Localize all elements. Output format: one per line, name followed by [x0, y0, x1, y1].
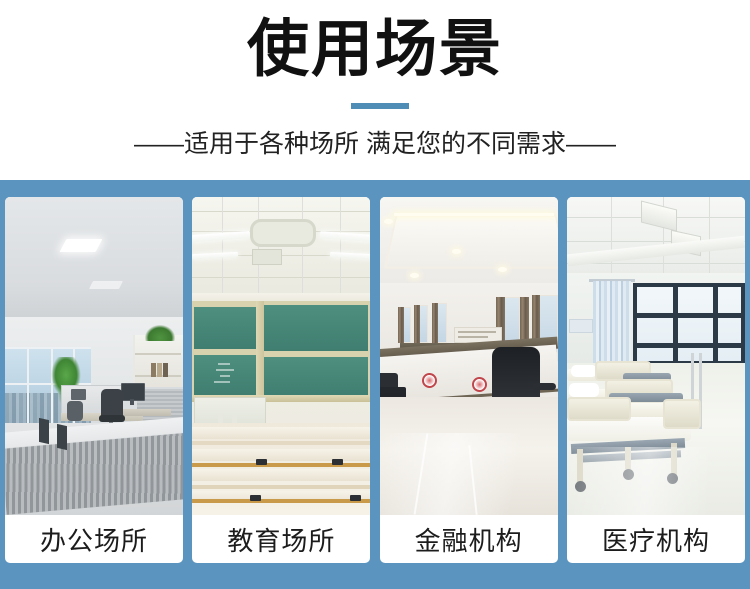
bank-scene-photo — [380, 197, 558, 515]
office-scene-photo — [5, 197, 183, 515]
scenarios-band: 办公场所 — [0, 180, 750, 589]
scenario-card-list: 办公场所 — [5, 197, 745, 563]
scenario-card-label: 办公场所 — [5, 515, 183, 563]
scenario-card-education[interactable]: 教育场所 — [192, 197, 370, 563]
page-subtitle: ——适用于各种场所 满足您的不同需求—— — [0, 128, 750, 160]
hospital-scene-photo — [567, 197, 745, 515]
scenario-card-office[interactable]: 办公场所 — [5, 197, 183, 563]
scenario-card-label: 教育场所 — [192, 515, 370, 563]
page-title: 使用场景 — [0, 14, 750, 86]
title-divider-rule — [351, 103, 409, 109]
page-header: 使用场景 ——适用于各种场所 满足您的不同需求—— — [0, 0, 750, 180]
scenario-card-label: 医疗机构 — [567, 515, 745, 563]
scenario-card-label: 金融机构 — [380, 515, 558, 563]
usage-scenarios-page: 使用场景 ——适用于各种场所 满足您的不同需求—— — [0, 0, 750, 589]
classroom-scene-photo — [192, 197, 370, 515]
scenario-card-financial[interactable]: 金融机构 — [380, 197, 558, 563]
scenario-card-medical[interactable]: 医疗机构 — [567, 197, 745, 563]
